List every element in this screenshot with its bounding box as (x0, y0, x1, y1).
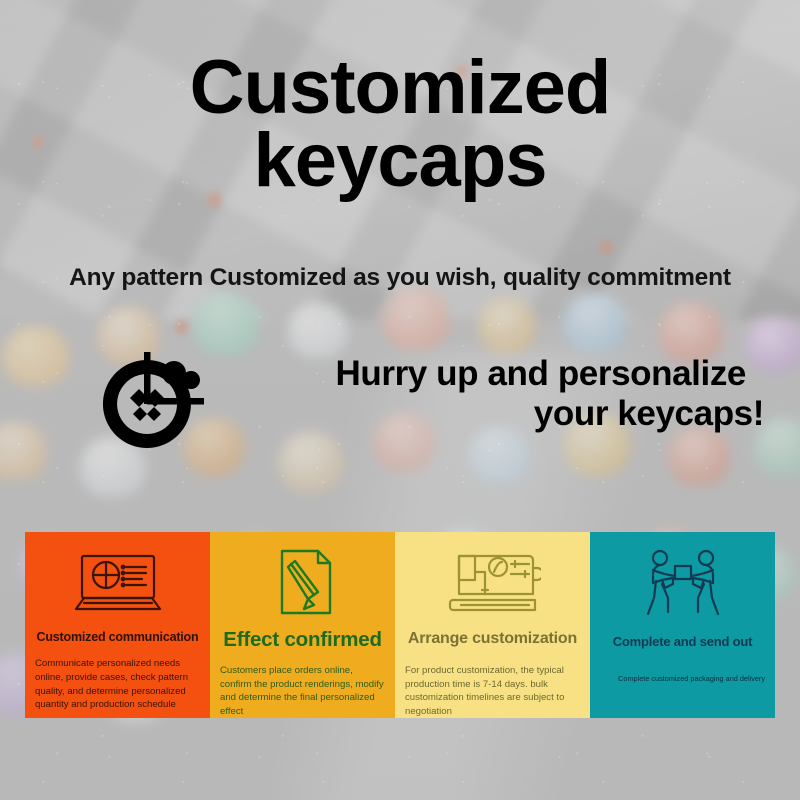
page-title-line2: keycaps (0, 125, 800, 198)
step-body: Complete customized packaging and delive… (600, 674, 765, 685)
step-card-customized-communication[interactable]: Customized communication Communicate per… (25, 532, 210, 718)
page-title: Customized keycaps (0, 52, 800, 198)
delivery-people-icon (600, 546, 765, 620)
process-steps: Customized communication Communicate per… (25, 532, 775, 718)
step-title: Customized communication (35, 630, 200, 644)
cta-line1: Hurry up and personalize (228, 354, 764, 394)
hero-subtitle: Any pattern Customized as you wish, qual… (0, 264, 800, 292)
sewing-machine-icon (405, 546, 580, 620)
laptop-chart-icon (35, 546, 200, 620)
call-to-action: Hurry up and personalize your keycaps! (0, 358, 800, 468)
brand-logo-icon (100, 352, 204, 456)
step-card-effect-confirmed[interactable]: Effect confirmed Customers place orders … (210, 532, 395, 718)
step-body: Communicate personalized needs online, p… (35, 657, 200, 711)
step-card-arrange-customization[interactable]: Arrange customization For product custom… (395, 532, 590, 718)
cta-text: Hurry up and personalize your keycaps! (228, 354, 764, 434)
cta-line2: your keycaps! (228, 394, 764, 434)
step-body: For product customization, the typical p… (405, 664, 580, 718)
step-title: Complete and send out (600, 634, 765, 650)
step-title: Effect confirmed (220, 628, 385, 652)
step-title: Arrange customization (405, 630, 580, 648)
step-card-complete-and-send-out[interactable]: Complete and send out Complete customize… (590, 532, 775, 718)
step-body: Customers place orders online, confirm t… (220, 664, 385, 718)
document-pen-icon (220, 546, 385, 620)
